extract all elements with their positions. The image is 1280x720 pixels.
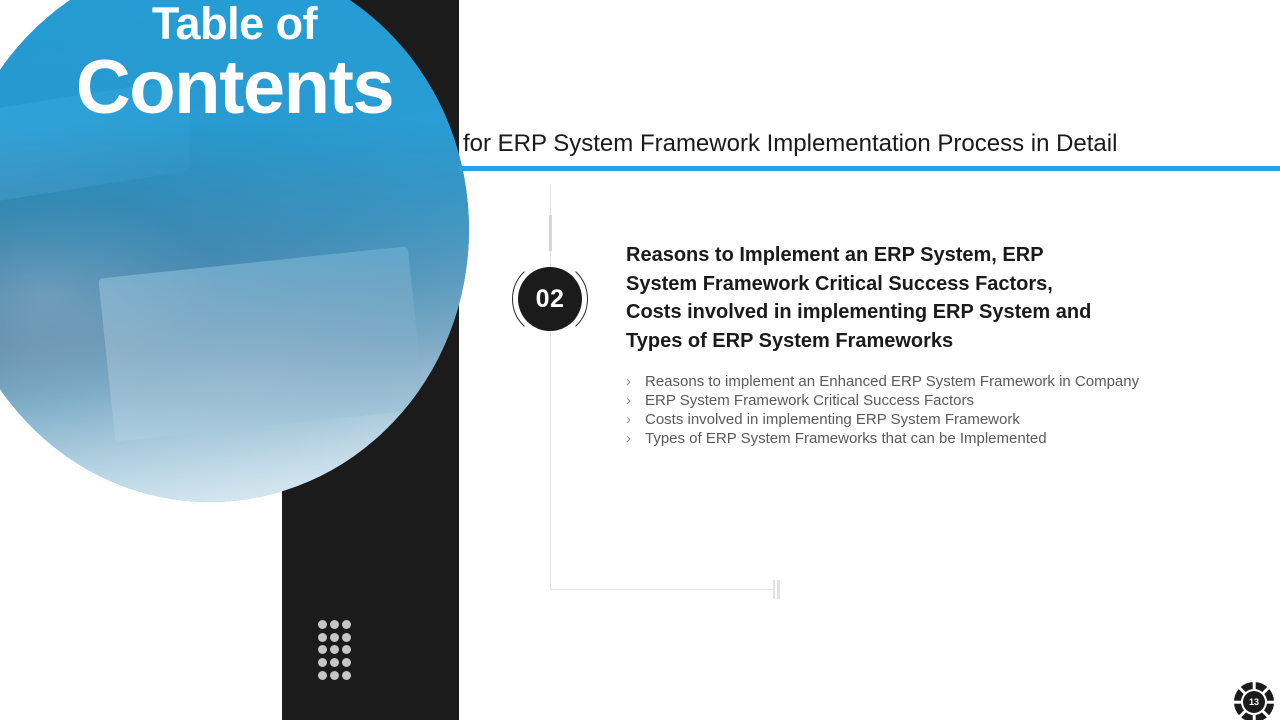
chevron-right-icon: ›: [626, 410, 631, 429]
header-subtitle: for ERP System Framework Implementation …: [458, 130, 1280, 159]
bracket-cap-gap: [775, 580, 777, 599]
chevron-right-icon: ›: [626, 429, 631, 448]
section-number-label: 02: [536, 285, 565, 314]
list-item: › Reasons to implement an Enhanced ERP S…: [626, 372, 1206, 391]
page-title-line1: Table of: [0, 1, 469, 48]
list-item-label: ERP System Framework Critical Success Fa…: [645, 392, 974, 409]
grid-dot: [318, 620, 327, 629]
bracket-end-cap: [773, 580, 780, 599]
grid-dot: [342, 620, 351, 629]
grid-dot: [330, 645, 339, 654]
list-item-label: Reasons to implement an Enhanced ERP Sys…: [645, 373, 1139, 390]
bracket-vertical-accent: [549, 215, 552, 251]
page-title-line2: Contents: [0, 50, 469, 126]
dot-grid-decoration: [316, 618, 352, 682]
grid-dot: [318, 645, 327, 654]
list-item: › Types of ERP System Frameworks that ca…: [626, 429, 1206, 448]
grid-dot: [318, 633, 327, 642]
header-accent-rule: [458, 166, 1280, 171]
list-item-label: Types of ERP System Frameworks that can …: [645, 430, 1047, 447]
list-item: › ERP System Framework Critical Success …: [626, 391, 1206, 410]
grid-dot: [342, 633, 351, 642]
grid-dot: [330, 633, 339, 642]
list-item: › Costs involved in implementing ERP Sys…: [626, 410, 1206, 429]
list-item-label: Costs involved in implementing ERP Syste…: [645, 411, 1020, 428]
section-number-circle: 02: [518, 267, 582, 331]
section-number-badge: 02: [512, 261, 588, 337]
grid-dot: [342, 658, 351, 667]
grid-dot: [318, 658, 327, 667]
chevron-right-icon: ›: [626, 372, 631, 391]
grid-dot: [330, 658, 339, 667]
bracket-horizontal-line: [550, 589, 777, 590]
page-title: Table of Contents: [0, 1, 469, 126]
grid-dot: [330, 671, 339, 680]
grid-dot: [342, 645, 351, 654]
badge-inner-circle: 13: [1243, 691, 1265, 713]
page-number-label: 13: [1249, 697, 1259, 707]
hero-circle-image: Table of Contents: [0, 0, 469, 502]
section-title: Reasons to Implement an ERP System, ERP …: [626, 241, 1106, 355]
header: for ERP System Framework Implementation …: [458, 130, 1280, 159]
grid-dot: [330, 620, 339, 629]
grid-dot: [342, 671, 351, 680]
slide-root: Table of Contents for ERP System Framewo…: [0, 0, 1280, 720]
grid-dot: [318, 671, 327, 680]
section-bullet-list: › Reasons to implement an Enhanced ERP S…: [626, 372, 1206, 448]
page-number-badge: 13: [1234, 682, 1274, 720]
chevron-right-icon: ›: [626, 391, 631, 410]
